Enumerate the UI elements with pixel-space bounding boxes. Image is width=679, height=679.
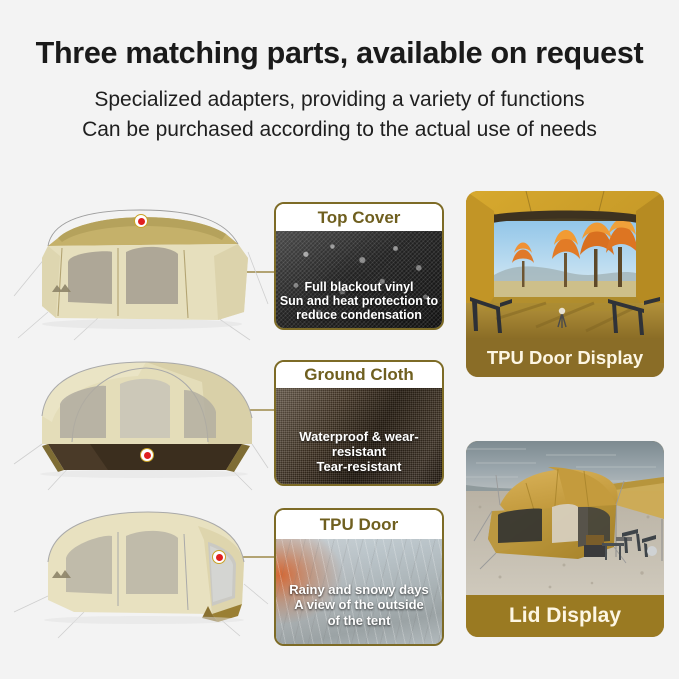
page-title: Three matching parts, available on reque…: [0, 36, 679, 71]
caption-line: Sun and heat protection to: [276, 294, 442, 308]
lid-display-photo: [466, 441, 664, 595]
caption-line: Waterproof & wear-resistant: [276, 429, 442, 459]
tpu-door-display-label: TPU Door Display: [466, 339, 664, 377]
tpu-door-display-photo: [466, 191, 664, 339]
spec-card-body: Full blackout vinyl Sun and heat protect…: [276, 231, 442, 328]
tent-illustration-tpu-door: [12, 500, 270, 642]
caption-line: Rainy and snowy days: [276, 582, 442, 598]
spec-card-top-cover[interactable]: Top Cover Full blackout vinyl Sun and he…: [274, 202, 444, 330]
subtitle-line-2: Can be purchased according to the actual…: [0, 118, 679, 142]
photo-card-lid-display[interactable]: Lid Display: [466, 441, 664, 637]
caption-line: A view of the outside: [276, 597, 442, 613]
spec-card-caption: Waterproof & wear-resistant Tear-resista…: [276, 429, 442, 484]
spec-card-caption: Full blackout vinyl Sun and heat protect…: [276, 280, 442, 328]
infographic-page: Three matching parts, available on reque…: [0, 0, 679, 679]
lid-display-label: Lid Display: [466, 595, 664, 637]
tent-illustration-top-cover: [12, 200, 270, 342]
caption-line: reduce condensation: [276, 308, 442, 322]
spec-card-body: Waterproof & wear-resistant Tear-resista…: [276, 388, 442, 484]
ground-cloth-marker[interactable]: [140, 448, 154, 462]
photo-card-tpu-door-display[interactable]: TPU Door Display: [466, 191, 664, 377]
tent-illustration-ground-cloth: [12, 352, 270, 494]
spec-card-tpu-door[interactable]: TPU Door Rainy and snowy days A view of …: [274, 508, 444, 646]
subtitle-line-1: Specialized adapters, providing a variet…: [0, 88, 679, 112]
spec-card-title: Ground Cloth: [276, 362, 442, 388]
spec-card-caption: Rainy and snowy days A view of the outsi…: [276, 582, 442, 645]
spec-card-body: Rainy and snowy days A view of the outsi…: [276, 539, 442, 644]
header: Three matching parts, available on reque…: [0, 0, 679, 142]
tpu-door-marker[interactable]: [212, 550, 226, 564]
spec-card-title: Top Cover: [276, 204, 442, 231]
spec-card-title: TPU Door: [276, 510, 442, 539]
spec-card-ground-cloth[interactable]: Ground Cloth Waterproof & wear-resistant…: [274, 360, 444, 486]
caption-line: of the tent: [276, 613, 442, 629]
caption-line: Full blackout vinyl: [276, 280, 442, 294]
caption-line: Tear-resistant: [276, 459, 442, 474]
top-cover-marker[interactable]: [134, 214, 148, 228]
